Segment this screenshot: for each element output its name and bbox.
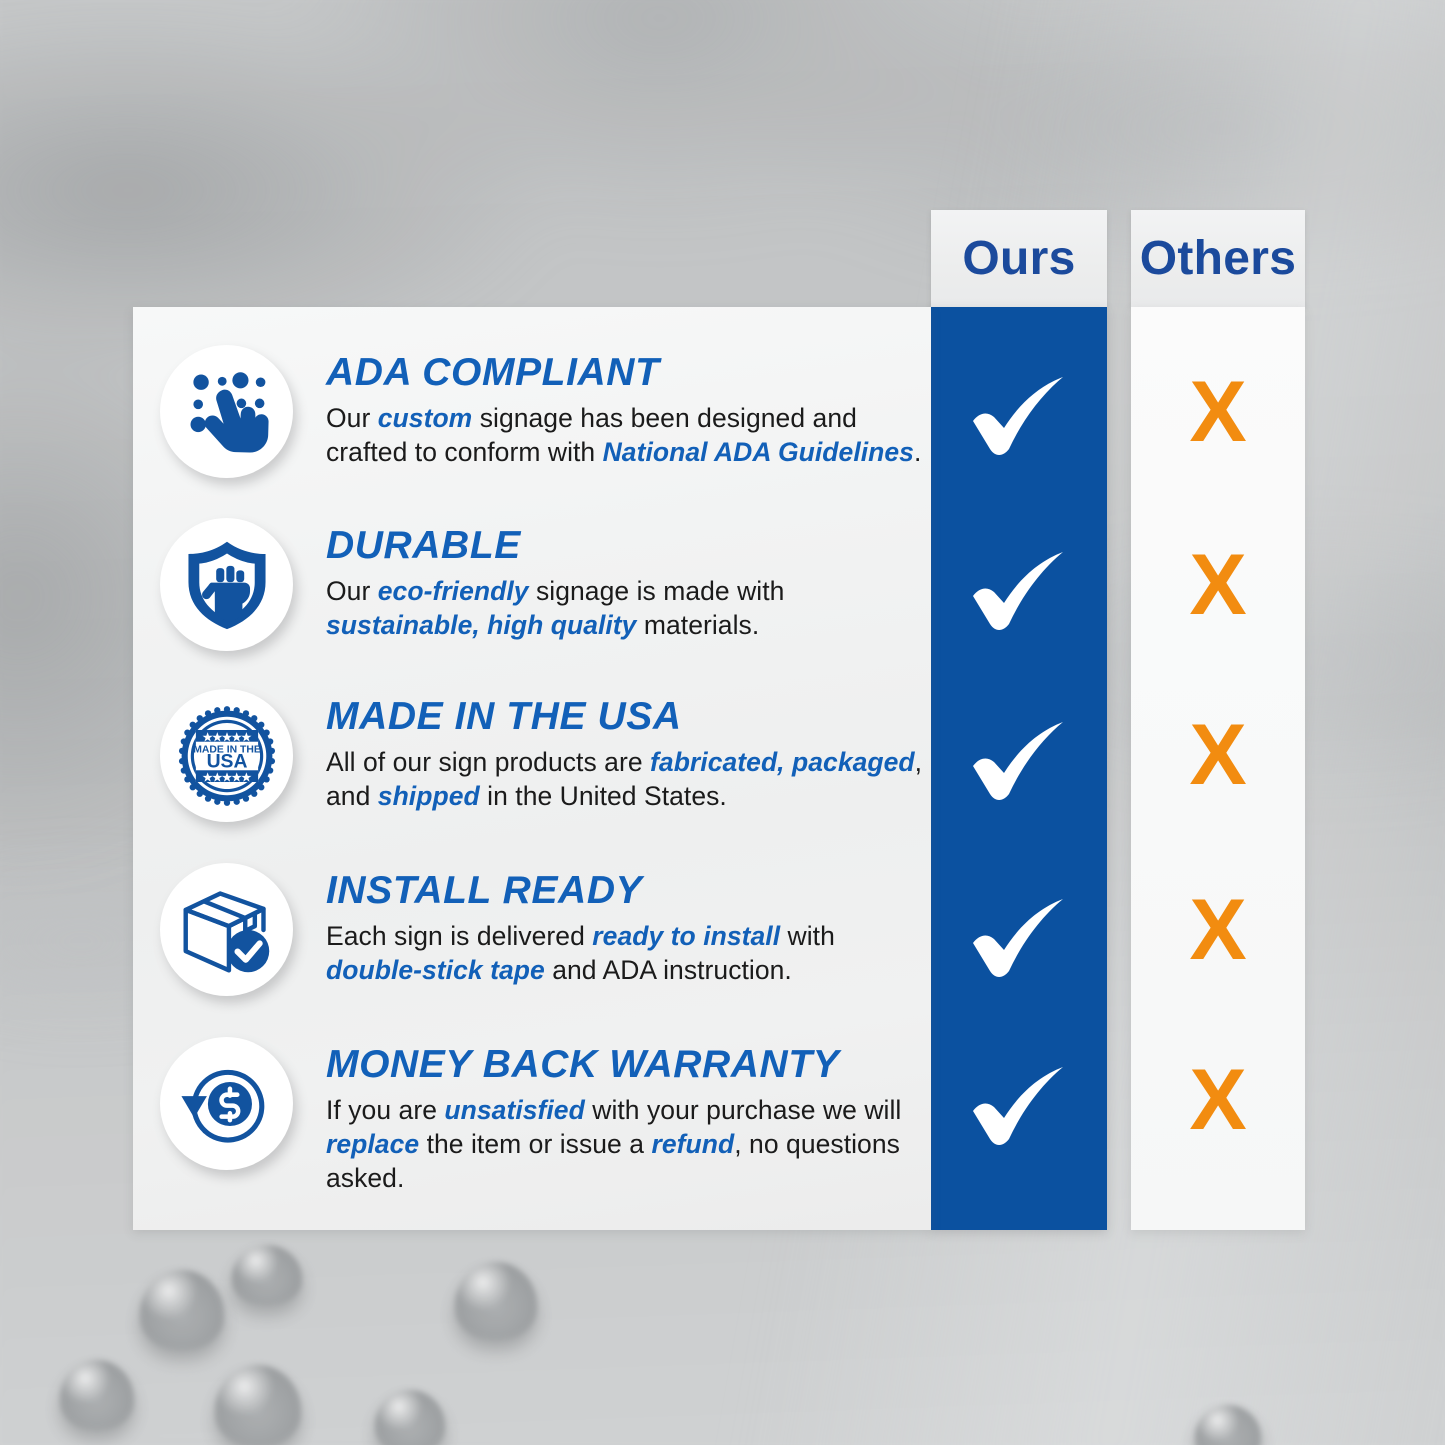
feature-description: If you are unsatisfied with your purchas… — [326, 1093, 926, 1196]
feature-text: MONEY BACK WARRANTY If you are unsatisfi… — [293, 1037, 931, 1196]
feature-text: INSTALL READY Each sign is delivered rea… — [293, 863, 931, 987]
box-check-icon — [160, 863, 293, 996]
check-icon — [967, 1061, 1071, 1149]
feature-description: All of our sign products are fabricated,… — [326, 745, 926, 814]
feature-title: MONEY BACK WARRANTY — [326, 1045, 931, 1086]
money-back-icon — [160, 1037, 293, 1170]
feature-title: INSTALL READY — [326, 871, 931, 912]
x-icon: X — [1189, 369, 1246, 455]
made-in-usa-badge-icon: MADE IN THE USA — [160, 689, 293, 822]
feature-text: DURABLE Our eco-friendly signage is made… — [293, 518, 931, 642]
check-icon — [967, 546, 1071, 634]
feature-card: ADA COMPLIANT Our custom signage has bee… — [133, 307, 931, 1230]
feature-title: MADE IN THE USA — [326, 697, 931, 738]
feature-row: MADE IN THE USA MADE IN THE USA All of o… — [133, 689, 931, 822]
x-icon: X — [1189, 887, 1246, 973]
feature-row: INSTALL READY Each sign is delivered rea… — [133, 863, 931, 996]
column-header-ours: Ours — [931, 210, 1107, 307]
feature-title: DURABLE — [326, 526, 931, 567]
check-icon — [967, 893, 1071, 981]
x-icon: X — [1189, 1057, 1246, 1143]
column-header-others: Others — [1131, 210, 1305, 307]
others-x-row-3: X — [1131, 700, 1305, 810]
feature-description: Our custom signage has been designed and… — [326, 401, 926, 470]
check-icon — [967, 716, 1071, 804]
feature-description: Our eco-friendly signage is made with su… — [326, 574, 926, 643]
braille-hand-icon — [160, 345, 293, 478]
others-x-row-2: X — [1131, 530, 1305, 640]
feature-description: Each sign is delivered ready to install … — [326, 919, 926, 988]
others-x-row-1: X — [1131, 357, 1305, 467]
others-x-row-5: X — [1131, 1045, 1305, 1155]
x-icon: X — [1189, 542, 1246, 628]
shield-fist-icon — [160, 518, 293, 651]
usa-badge-line2: USA — [206, 750, 247, 772]
feature-row: ADA COMPLIANT Our custom signage has bee… — [133, 345, 931, 478]
x-icon: X — [1189, 712, 1246, 798]
column-header-others-label: Others — [1140, 235, 1297, 283]
column-header-ours-label: Ours — [962, 235, 1075, 283]
others-x-row-4: X — [1131, 875, 1305, 985]
ours-check-row-5 — [931, 1050, 1107, 1160]
ours-check-row-4 — [931, 882, 1107, 992]
feature-text: ADA COMPLIANT Our custom signage has bee… — [293, 345, 931, 469]
feature-row: MONEY BACK WARRANTY If you are unsatisfi… — [133, 1037, 931, 1196]
check-icon — [967, 371, 1071, 459]
feature-row: DURABLE Our eco-friendly signage is made… — [133, 518, 931, 651]
comparison-board: Ours Others — [0, 0, 1445, 1445]
ours-check-row-3 — [931, 705, 1107, 815]
feature-text: MADE IN THE USA All of our sign products… — [293, 689, 931, 813]
ours-check-row-1 — [931, 360, 1107, 470]
ours-check-row-2 — [931, 535, 1107, 645]
feature-title: ADA COMPLIANT — [326, 353, 931, 394]
